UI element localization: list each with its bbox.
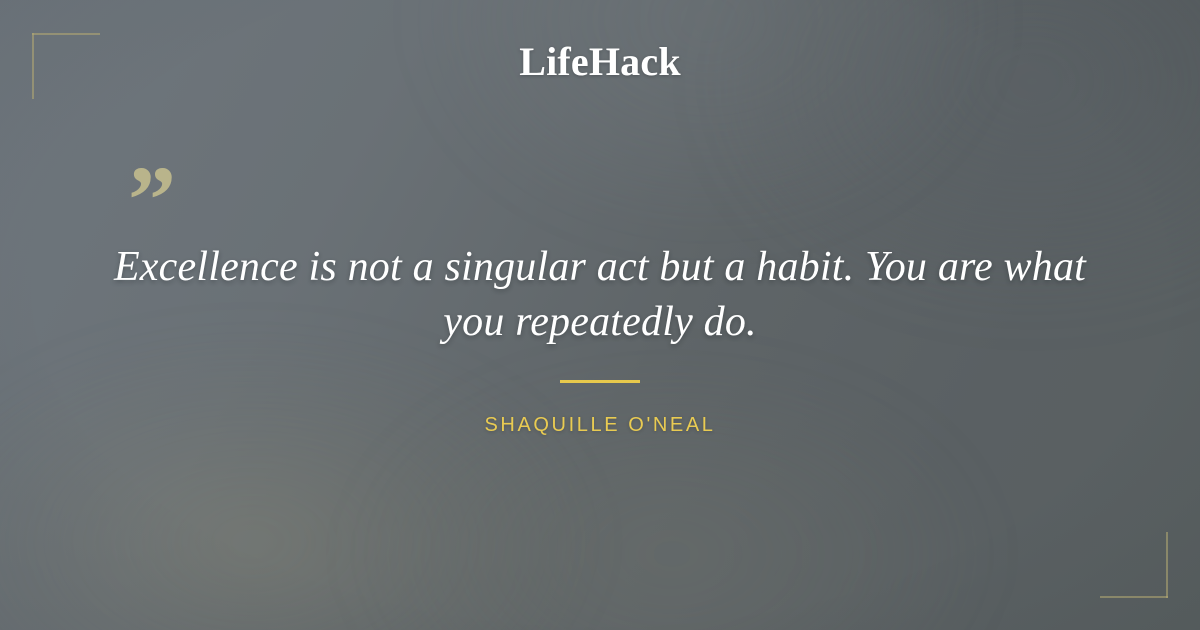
quote-line-2: you repeatedly do. xyxy=(112,295,1088,350)
quote-text: Excellence is not a singular act but a h… xyxy=(112,240,1088,349)
lifehack-logo[interactable]: LifeHack xyxy=(0,40,1200,84)
divider-rule xyxy=(560,380,640,383)
quote-line-1: Excellence is not a singular act but a h… xyxy=(112,240,1088,295)
corner-bracket-bottom-right-vertical xyxy=(1166,532,1168,598)
quote-card: LifeHack ” Excellence is not a singular … xyxy=(0,0,1200,630)
quote-author: SHAQUILLE O'NEAL xyxy=(0,413,1200,437)
corner-bracket-bottom-right-horizontal xyxy=(1100,596,1168,598)
corner-bracket-top-left-horizontal xyxy=(32,33,100,35)
corner-bracket-bottom-right-icon xyxy=(1100,532,1168,598)
quotation-mark-icon: ” xyxy=(128,152,174,248)
